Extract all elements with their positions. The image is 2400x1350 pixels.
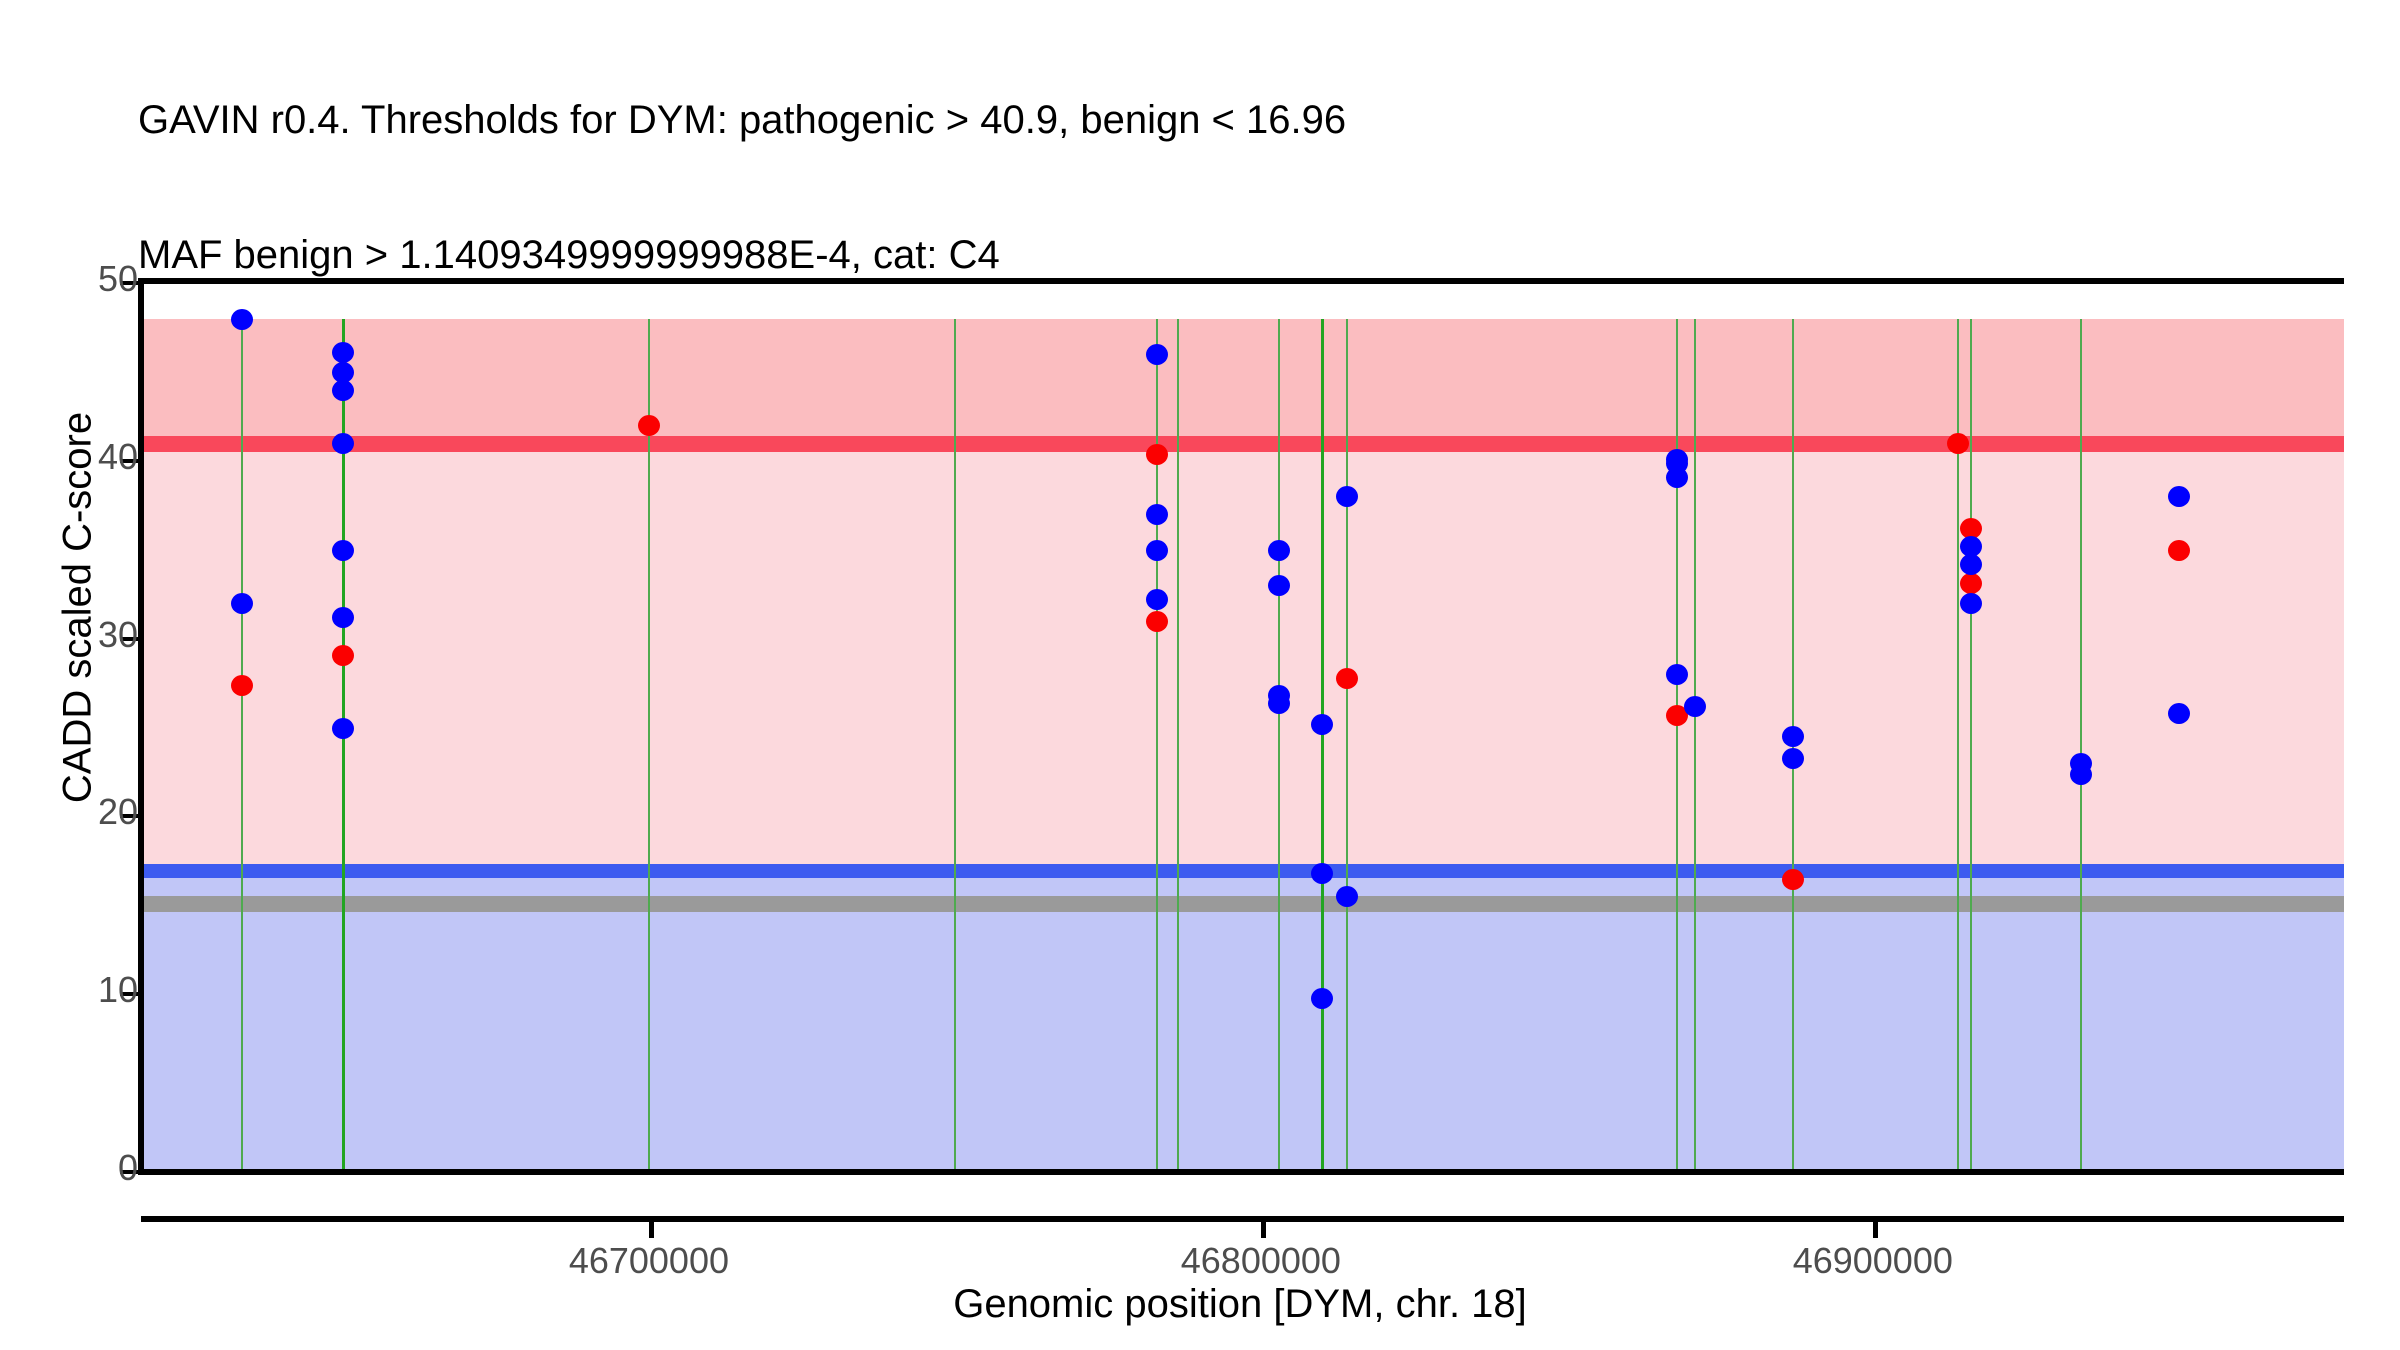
- pathogenic-variant-point: [332, 645, 354, 666]
- refseq-exon-line: [1278, 319, 1280, 1172]
- pathogenic-band: [141, 319, 2344, 445]
- x-axis-tick: [649, 1222, 654, 1238]
- x-axis-line: [141, 1216, 2344, 1222]
- x-axis-tick-label: 46900000: [1723, 1240, 2023, 1282]
- refseq-exon-line: [241, 319, 243, 1172]
- gnomad-variant-point: [231, 309, 253, 330]
- gnomad-variant-point: [1336, 486, 1358, 507]
- refseq-exon-line: [1346, 319, 1348, 1172]
- gnomad-variant-point: [1146, 504, 1168, 525]
- refseq-exon-line: [648, 319, 650, 1172]
- x-axis-tick-label: 46800000: [1111, 1240, 1411, 1282]
- y-axis-tick-label: 40: [18, 436, 138, 478]
- gnomad-variant-point: [1146, 540, 1168, 561]
- benign-threshold-line: [141, 864, 2344, 878]
- gnomad-variant-point: [332, 540, 354, 561]
- gnomad-variant-point: [1782, 748, 1804, 769]
- y-axis-label: CADD scaled C-score: [56, 208, 101, 1008]
- pathogenic-variant-point: [1146, 444, 1168, 465]
- refseq-exon-line: [2080, 319, 2082, 1172]
- gnomad-variant-point: [1268, 693, 1290, 714]
- refseq-exon-line: [954, 319, 956, 1172]
- gnomad-variant-point: [1336, 886, 1358, 907]
- gnomad-variant-point: [231, 593, 253, 614]
- axis-top-spine: [141, 278, 2344, 284]
- y-axis-tick-label: 20: [18, 791, 138, 833]
- gnomad-variant-point: [1268, 540, 1290, 561]
- gnomad-variant-point: [332, 718, 354, 739]
- axis-left-spine: [138, 278, 144, 1175]
- benign-band-lower: [141, 912, 2344, 1172]
- fallback-threshold-line: [141, 896, 2344, 912]
- plot-area: [141, 283, 2344, 1172]
- refseq-exon-line: [1177, 319, 1179, 1172]
- pathogenic-variant-point: [1146, 611, 1168, 632]
- y-axis-tick-label: 0: [18, 1147, 138, 1189]
- gnomad-variant-point: [2168, 703, 2190, 724]
- pathogenic-variant-point: [1336, 668, 1358, 689]
- y-axis-tick-label: 50: [18, 258, 138, 300]
- refseq-exon-line: [1321, 319, 1324, 1172]
- refseq-exon-line: [1970, 319, 1972, 1172]
- vus-band: [141, 452, 2344, 864]
- chart-page: GAVIN r0.4. Thresholds for DYM: pathogen…: [0, 0, 2400, 1350]
- benign-band-upper: [141, 878, 2344, 897]
- gnomad-variant-point: [1146, 344, 1168, 365]
- x-axis-tick-label: 46700000: [499, 1240, 799, 1282]
- gnomad-variant-point: [332, 380, 354, 401]
- gnomad-variant-point: [332, 433, 354, 454]
- gnomad-variant-point: [2168, 486, 2190, 507]
- pathogenic-variant-point: [638, 415, 660, 436]
- x-axis-tick: [1873, 1222, 1878, 1238]
- pathogenic-threshold-line: [141, 436, 2344, 452]
- gnomad-variant-point: [1666, 467, 1688, 488]
- gnomad-variant-point: [1311, 714, 1333, 735]
- gnomad-variant-point: [1311, 988, 1333, 1009]
- pathogenic-variant-point: [2168, 540, 2190, 561]
- refseq-exon-line: [1694, 319, 1696, 1172]
- gnomad-variant-point: [1960, 593, 1982, 614]
- axis-bottom-spine: [141, 1169, 2344, 1175]
- title-line-2: MAF benign > 1.1409349999999988E-4, cat:…: [138, 233, 2338, 278]
- gnomad-variant-point: [1666, 664, 1688, 685]
- gnomad-variant-point: [2070, 764, 2092, 785]
- x-axis-tick: [1261, 1222, 1266, 1238]
- refseq-exon-line: [1676, 319, 1678, 1172]
- gnomad-variant-point: [1960, 554, 1982, 575]
- y-axis-tick-label: 10: [18, 969, 138, 1011]
- y-axis-tick-label: 30: [18, 614, 138, 656]
- pathogenic-variant-point: [1782, 869, 1804, 890]
- pathogenic-variant-point: [231, 675, 253, 696]
- title-line-1: GAVIN r0.4. Thresholds for DYM: pathogen…: [138, 98, 2338, 143]
- x-axis-label: Genomic position [DYM, chr. 18]: [140, 1282, 2340, 1327]
